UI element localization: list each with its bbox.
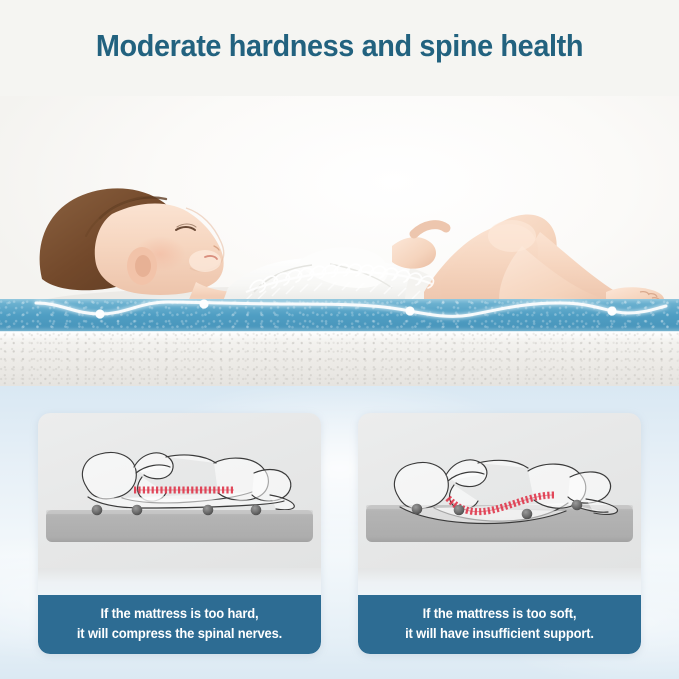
caption-line-1: If the mattress is too soft,	[371, 604, 627, 624]
baby-hard-mattress-diagram	[38, 413, 321, 568]
baby-head	[40, 188, 246, 302]
mattress-wave-line	[0, 286, 679, 342]
caption-too-soft: If the mattress is too soft, it will hav…	[358, 595, 641, 654]
baby-arm	[392, 225, 446, 269]
caption-line-1: If the mattress is too hard,	[51, 604, 307, 624]
illustration-too-soft	[358, 413, 641, 568]
caption-too-hard: If the mattress is too hard, it will com…	[38, 595, 321, 654]
caption-line-2: it will compress the spinal nerves.	[51, 624, 307, 644]
caption-line-2: it will have insufficient support.	[371, 624, 627, 644]
card-gap	[38, 568, 321, 595]
illustration-too-hard	[38, 413, 321, 568]
card-too-soft[interactable]: If the mattress is too soft, it will hav…	[358, 413, 641, 654]
product-infographic-page: Moderate hardness and spine health	[0, 0, 679, 679]
page-title: Moderate hardness and spine health	[24, 28, 655, 64]
hero-photo	[0, 96, 679, 386]
card-gap	[358, 568, 641, 595]
comparison-cards: If the mattress is too hard, it will com…	[38, 413, 642, 654]
mattress-slab	[46, 510, 313, 542]
comparison-section: If the mattress is too hard, it will com…	[0, 386, 679, 679]
hero-section: Moderate hardness and spine health	[0, 0, 679, 386]
baby-soft-mattress-diagram	[358, 413, 641, 568]
baby-outline	[82, 453, 294, 510]
card-too-hard[interactable]: If the mattress is too hard, it will com…	[38, 413, 321, 654]
